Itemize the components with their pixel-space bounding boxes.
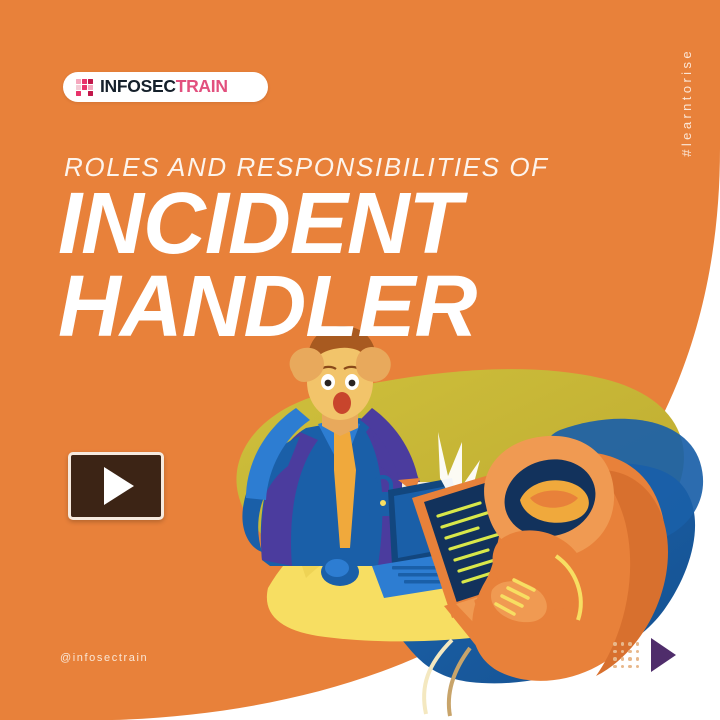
play-button[interactable]: [68, 452, 164, 520]
businessman-pupil-right: [349, 380, 356, 387]
logo-wordmark: INFOSECTRAIN: [100, 78, 228, 96]
page-title: INCIDENT HANDLER: [58, 183, 476, 348]
logo-word-infosec: INFOSEC: [100, 76, 176, 96]
padlock-keyhole: [380, 500, 386, 506]
play-triangle-icon: [104, 467, 134, 505]
infosectrain-logo[interactable]: INFOSECTRAIN: [63, 72, 268, 102]
poster-canvas: INFOSECTRAIN ROLES AND RESPONSIBILITIES …: [0, 0, 720, 720]
dot-grid-decoration: [613, 642, 639, 668]
logo-word-train: TRAIN: [176, 76, 228, 96]
mouse-highlight: [325, 559, 349, 577]
hashtag-learntorise: #learntorise: [679, 48, 694, 157]
incident-handler-illustration: [0, 0, 720, 720]
next-slide-arrow[interactable]: [651, 638, 676, 672]
businessman-pupil-left: [325, 380, 332, 387]
title-line-1: INCIDENT: [58, 183, 476, 266]
businessman-mouth: [333, 392, 351, 414]
infosectrain-logo-mark: [76, 79, 93, 96]
social-handle: @infosectrain: [60, 652, 148, 664]
slide-nav: [613, 638, 676, 672]
title-line-2: HANDLER: [58, 266, 476, 349]
